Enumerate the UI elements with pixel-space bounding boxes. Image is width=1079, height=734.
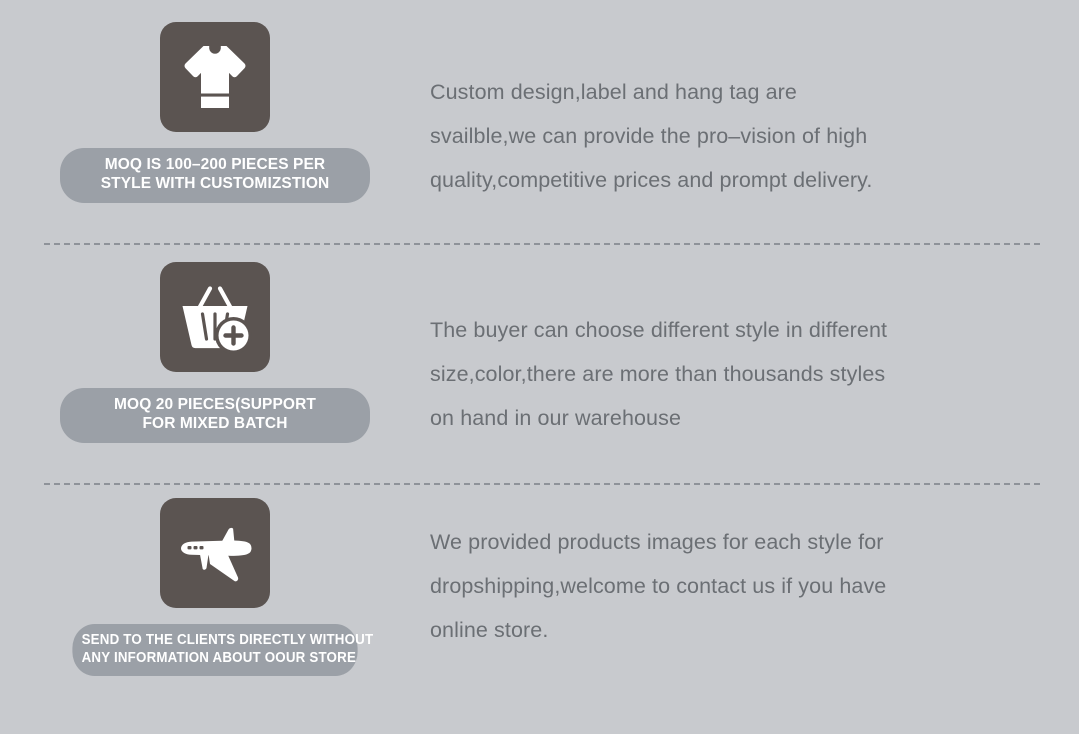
badge-line: ANY INFORMATION ABOUT OOUR STORE xyxy=(82,650,349,668)
tshirt-icon xyxy=(172,34,258,120)
badge-moq-mixed-batch: MOQ 20 PIECES(SUPPORT FOR MIXED BATCH xyxy=(60,388,370,443)
description-line: dropshipping,welcome to contact us if yo… xyxy=(430,564,1029,608)
description-line: on hand in our warehouse xyxy=(430,396,1029,440)
description-line: The buyer can choose different style in … xyxy=(430,308,1029,352)
feature-row-dropshipping: SEND TO THE CLIENTS DIRECTLY WITHOUT ANY… xyxy=(0,498,1079,676)
badge-dropshipping-privacy: SEND TO THE CLIENTS DIRECTLY WITHOUT ANY… xyxy=(72,624,357,676)
description-line: size,color,there are more than thousands… xyxy=(430,352,1029,396)
badge-moq-customization: MOQ IS 100–200 PIECES PER STYLE WITH CUS… xyxy=(60,148,370,203)
badge-line: MOQ IS 100–200 PIECES PER xyxy=(70,156,360,175)
badge-line: SEND TO THE CLIENTS DIRECTLY WITHOUT xyxy=(82,632,349,650)
feature-description-dropshipping: We provided products images for each sty… xyxy=(430,498,1079,652)
tshirt-icon-tile xyxy=(160,22,270,132)
feature-icon-column: MOQ IS 100–200 PIECES PER STYLE WITH CUS… xyxy=(0,22,430,203)
section-divider xyxy=(44,483,1040,485)
feature-icon-column: SEND TO THE CLIENTS DIRECTLY WITHOUT ANY… xyxy=(0,498,430,676)
badge-line: MOQ 20 PIECES(SUPPORT xyxy=(70,396,360,415)
feature-icon-column: MOQ 20 PIECES(SUPPORT FOR MIXED BATCH xyxy=(0,262,430,443)
description-line: We provided products images for each sty… xyxy=(430,520,1029,564)
description-line: online store. xyxy=(430,608,1029,652)
description-line: svailble,we can provide the pro–vision o… xyxy=(430,114,1029,158)
airplane-icon xyxy=(172,510,258,596)
feature-row-customization: MOQ IS 100–200 PIECES PER STYLE WITH CUS… xyxy=(0,22,1079,203)
badge-line: FOR MIXED BATCH xyxy=(70,415,360,434)
basket-add-icon-tile xyxy=(160,262,270,372)
basket-add-icon xyxy=(172,274,258,360)
badge-line: STYLE WITH CUSTOMIZSTION xyxy=(70,175,360,194)
feature-description-mixed-batch: The buyer can choose different style in … xyxy=(430,262,1079,440)
feature-description-customization: Custom design,label and hang tag are sva… xyxy=(430,22,1079,202)
section-divider xyxy=(44,243,1040,245)
description-line: Custom design,label and hang tag are xyxy=(430,70,1029,114)
feature-row-mixed-batch: MOQ 20 PIECES(SUPPORT FOR MIXED BATCH Th… xyxy=(0,262,1079,443)
features-page: MOQ IS 100–200 PIECES PER STYLE WITH CUS… xyxy=(0,0,1079,734)
airplane-icon-tile xyxy=(160,498,270,608)
description-line: quality,competitive prices and prompt de… xyxy=(430,158,1029,202)
